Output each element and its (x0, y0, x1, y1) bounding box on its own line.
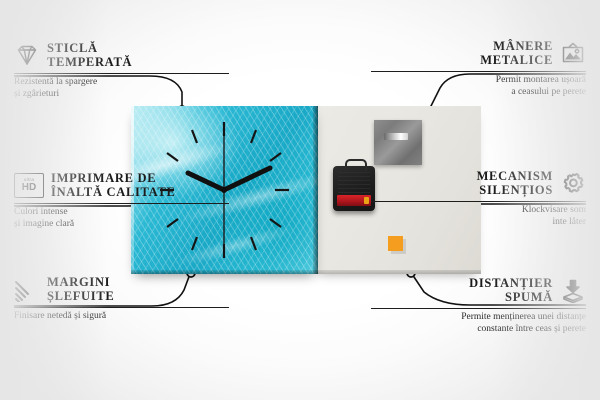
mechanism-hanging-loop (345, 159, 367, 171)
tick-1 (251, 130, 256, 143)
callout-header: ultra HD IMPRIMARE DE ÎNALTĂ CALITATE (14, 172, 229, 199)
callout-subtitle-line2: și imagine clară (14, 219, 229, 231)
press-down-layer-icon (560, 279, 586, 303)
callout-title: STICLĂ TEMPERATĂ (47, 42, 132, 69)
callout-rule (371, 308, 586, 309)
callout-header: MÂNERE METALICE (371, 40, 586, 67)
callout-rule (14, 203, 229, 204)
callout-subtitle-line2: inte låter (371, 217, 586, 229)
callout-subtitle-line2: și zgârieturi (14, 89, 229, 101)
callout-title: DISTANȚIER SPUMĂ (469, 277, 553, 304)
tick-11 (192, 130, 197, 143)
clock-mechanism (333, 166, 375, 211)
callout-silent-mechanism: MECANISM SILENȚIOS Klockvisare som inte … (371, 170, 586, 228)
callout-header: MARGINI ȘLEFUITE (14, 276, 229, 303)
tick-2 (270, 153, 281, 161)
diamond-icon (14, 44, 40, 68)
diagonal-lines-icon (14, 278, 40, 302)
callout-subtitle-line1: Permite menținerea unei distanțe (371, 312, 586, 324)
infographic-canvas: STICLĂ TEMPERATĂ Rezistentă la spargere … (0, 0, 600, 400)
callout-tempered-glass: STICLĂ TEMPERATĂ Rezistentă la spargere … (14, 42, 229, 100)
minute-hand (224, 168, 270, 190)
callout-metal-handles: MÂNERE METALICE Permit montarea ușoară a… (371, 40, 586, 98)
picture-frame-hanger-icon (560, 42, 586, 66)
callout-rule (371, 71, 586, 72)
callout-title: MECANISM SILENȚIOS (477, 170, 553, 197)
callout-rule (371, 201, 586, 202)
battery (337, 195, 371, 206)
callout-subtitle-line1: Klockvisare som (371, 205, 586, 217)
gear-icon (560, 172, 586, 196)
callout-header: DISTANȚIER SPUMĂ (371, 277, 586, 304)
callout-header: MECANISM SILENȚIOS (371, 170, 586, 197)
callout-foam-spacer: DISTANȚIER SPUMĂ Permite menținerea unei… (371, 277, 586, 335)
callout-title: MARGINI ȘLEFUITE (47, 276, 114, 303)
callout-polished-edges: MARGINI ȘLEFUITE Finisare netedă și sigu… (14, 276, 229, 323)
callout-subtitle-line2: a ceasului pe perete (371, 87, 586, 99)
tick-4 (270, 219, 281, 227)
metal-hanger-plate (374, 120, 422, 165)
tick-5 (251, 237, 256, 250)
callout-rule (14, 73, 229, 74)
foam-spacer-pad (388, 236, 403, 251)
callout-title: IMPRIMARE DE ÎNALTĂ CALITATE (51, 172, 176, 199)
ultra-hd-icon-large-label: HD (22, 183, 36, 193)
tick-10 (167, 153, 178, 161)
mechanism-vents (338, 172, 370, 194)
callout-subtitle-line1: Finisare netedă și sigură (14, 311, 229, 323)
callout-high-quality-print: ultra HD IMPRIMARE DE ÎNALTĂ CALITATE Cu… (14, 172, 229, 230)
tick-7 (192, 237, 197, 250)
callout-subtitle-line1: Culori intense (14, 207, 229, 219)
callout-subtitle-line1: Rezistentă la spargere (14, 77, 229, 89)
callout-header: STICLĂ TEMPERATĂ (14, 42, 229, 69)
callout-title: MÂNERE METALICE (480, 40, 553, 67)
callout-subtitle-line1: Permit montarea ușoară (371, 75, 586, 87)
callout-rule (14, 307, 229, 308)
hanger-slot (384, 133, 408, 140)
ultra-hd-icon: ultra HD (14, 173, 44, 198)
callout-subtitle-line2: constante între ceas și perete (371, 324, 586, 336)
